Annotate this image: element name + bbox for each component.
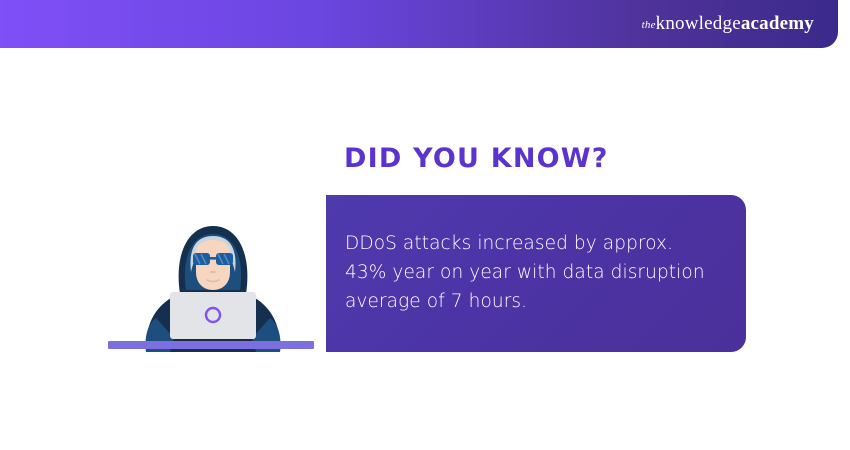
brand-suffix-text: academy [741, 13, 814, 35]
fact-line-3: average of 7 hours. [345, 291, 527, 312]
fact-text: DDoS attacks increased by approx. 43% ye… [345, 229, 716, 316]
laptop-lid [170, 292, 256, 339]
fact-card: DDoS attacks increased by approx. 43% ye… [326, 195, 746, 352]
brand-prefix-text: the [642, 19, 656, 31]
fact-line-2: 43% year on year with data disruption [345, 262, 705, 283]
header-bar: theknowledgeacademy [0, 0, 838, 48]
hacker-illustration [108, 210, 318, 352]
page-title: DID YOU KNOW? [344, 143, 609, 174]
fact-line-1: DDoS attacks increased by approx. [345, 233, 673, 254]
desk [108, 341, 314, 349]
brand-logo[interactable]: theknowledgeacademy [642, 13, 814, 35]
brand-mid-text: knowledge [656, 13, 741, 35]
